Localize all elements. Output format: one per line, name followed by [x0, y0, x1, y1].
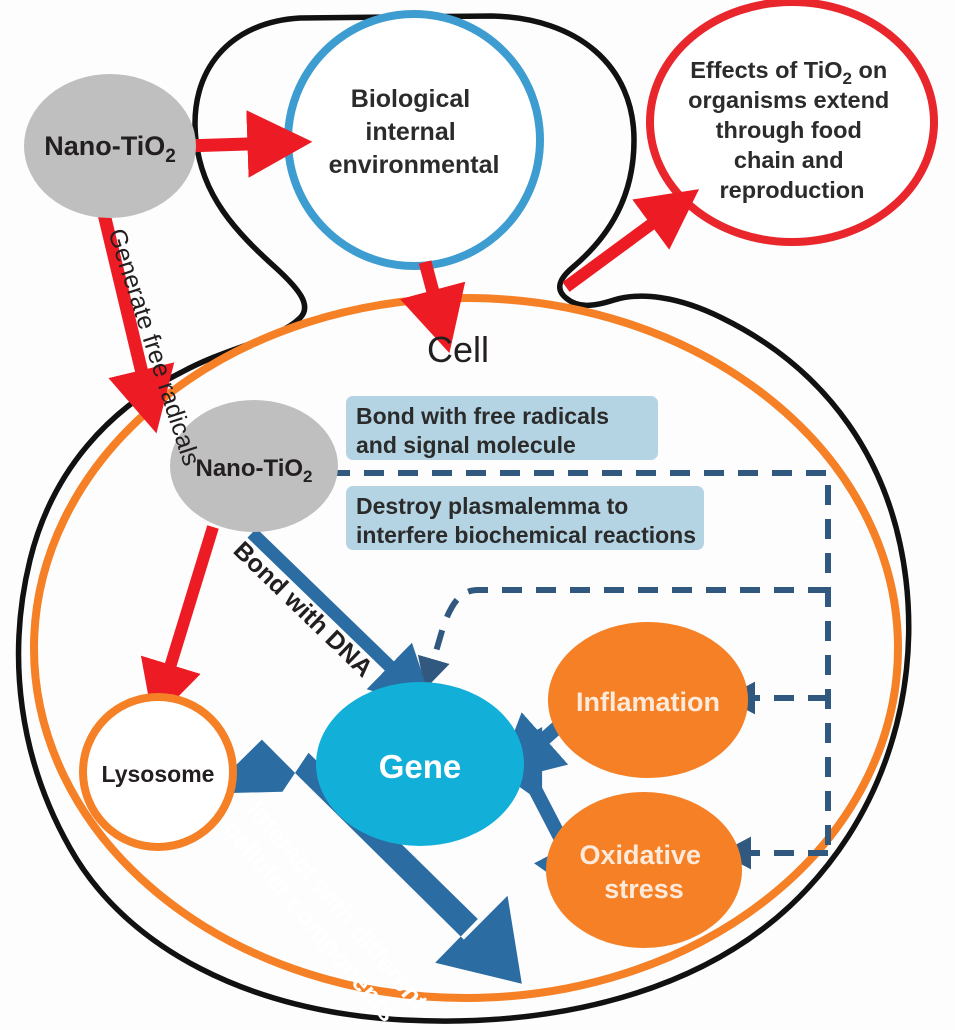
arrow-organism-to-foodchain: [566, 209, 672, 287]
diagram-svg: Nano-TiO2 Generate free radicals Biologi…: [0, 0, 955, 1030]
lysosome-label: Lysosome: [102, 761, 215, 787]
oxidative-stress-ellipse: [546, 792, 742, 948]
inflamation-label: Inflamation: [576, 687, 720, 717]
cell-label: Cell: [427, 329, 489, 370]
arrow-bond-with-dna: [252, 533, 408, 684]
arrow-nano-to-lysosome: [163, 527, 213, 690]
arrow-nano-to-biological: [185, 143, 276, 146]
diagram-canvas: Nano-TiO2 Generate free radicals Biologi…: [0, 0, 955, 1030]
edge-label-bond-with-dna: Bond with DNA: [228, 536, 378, 683]
nano-tio2-inside-label: Nano-TiO2: [195, 455, 312, 486]
arrow-biological-to-cell: [425, 262, 440, 318]
gene-label: Gene: [379, 748, 462, 785]
edge-label-generate-free-radicals: Generate free radicals: [102, 225, 205, 469]
